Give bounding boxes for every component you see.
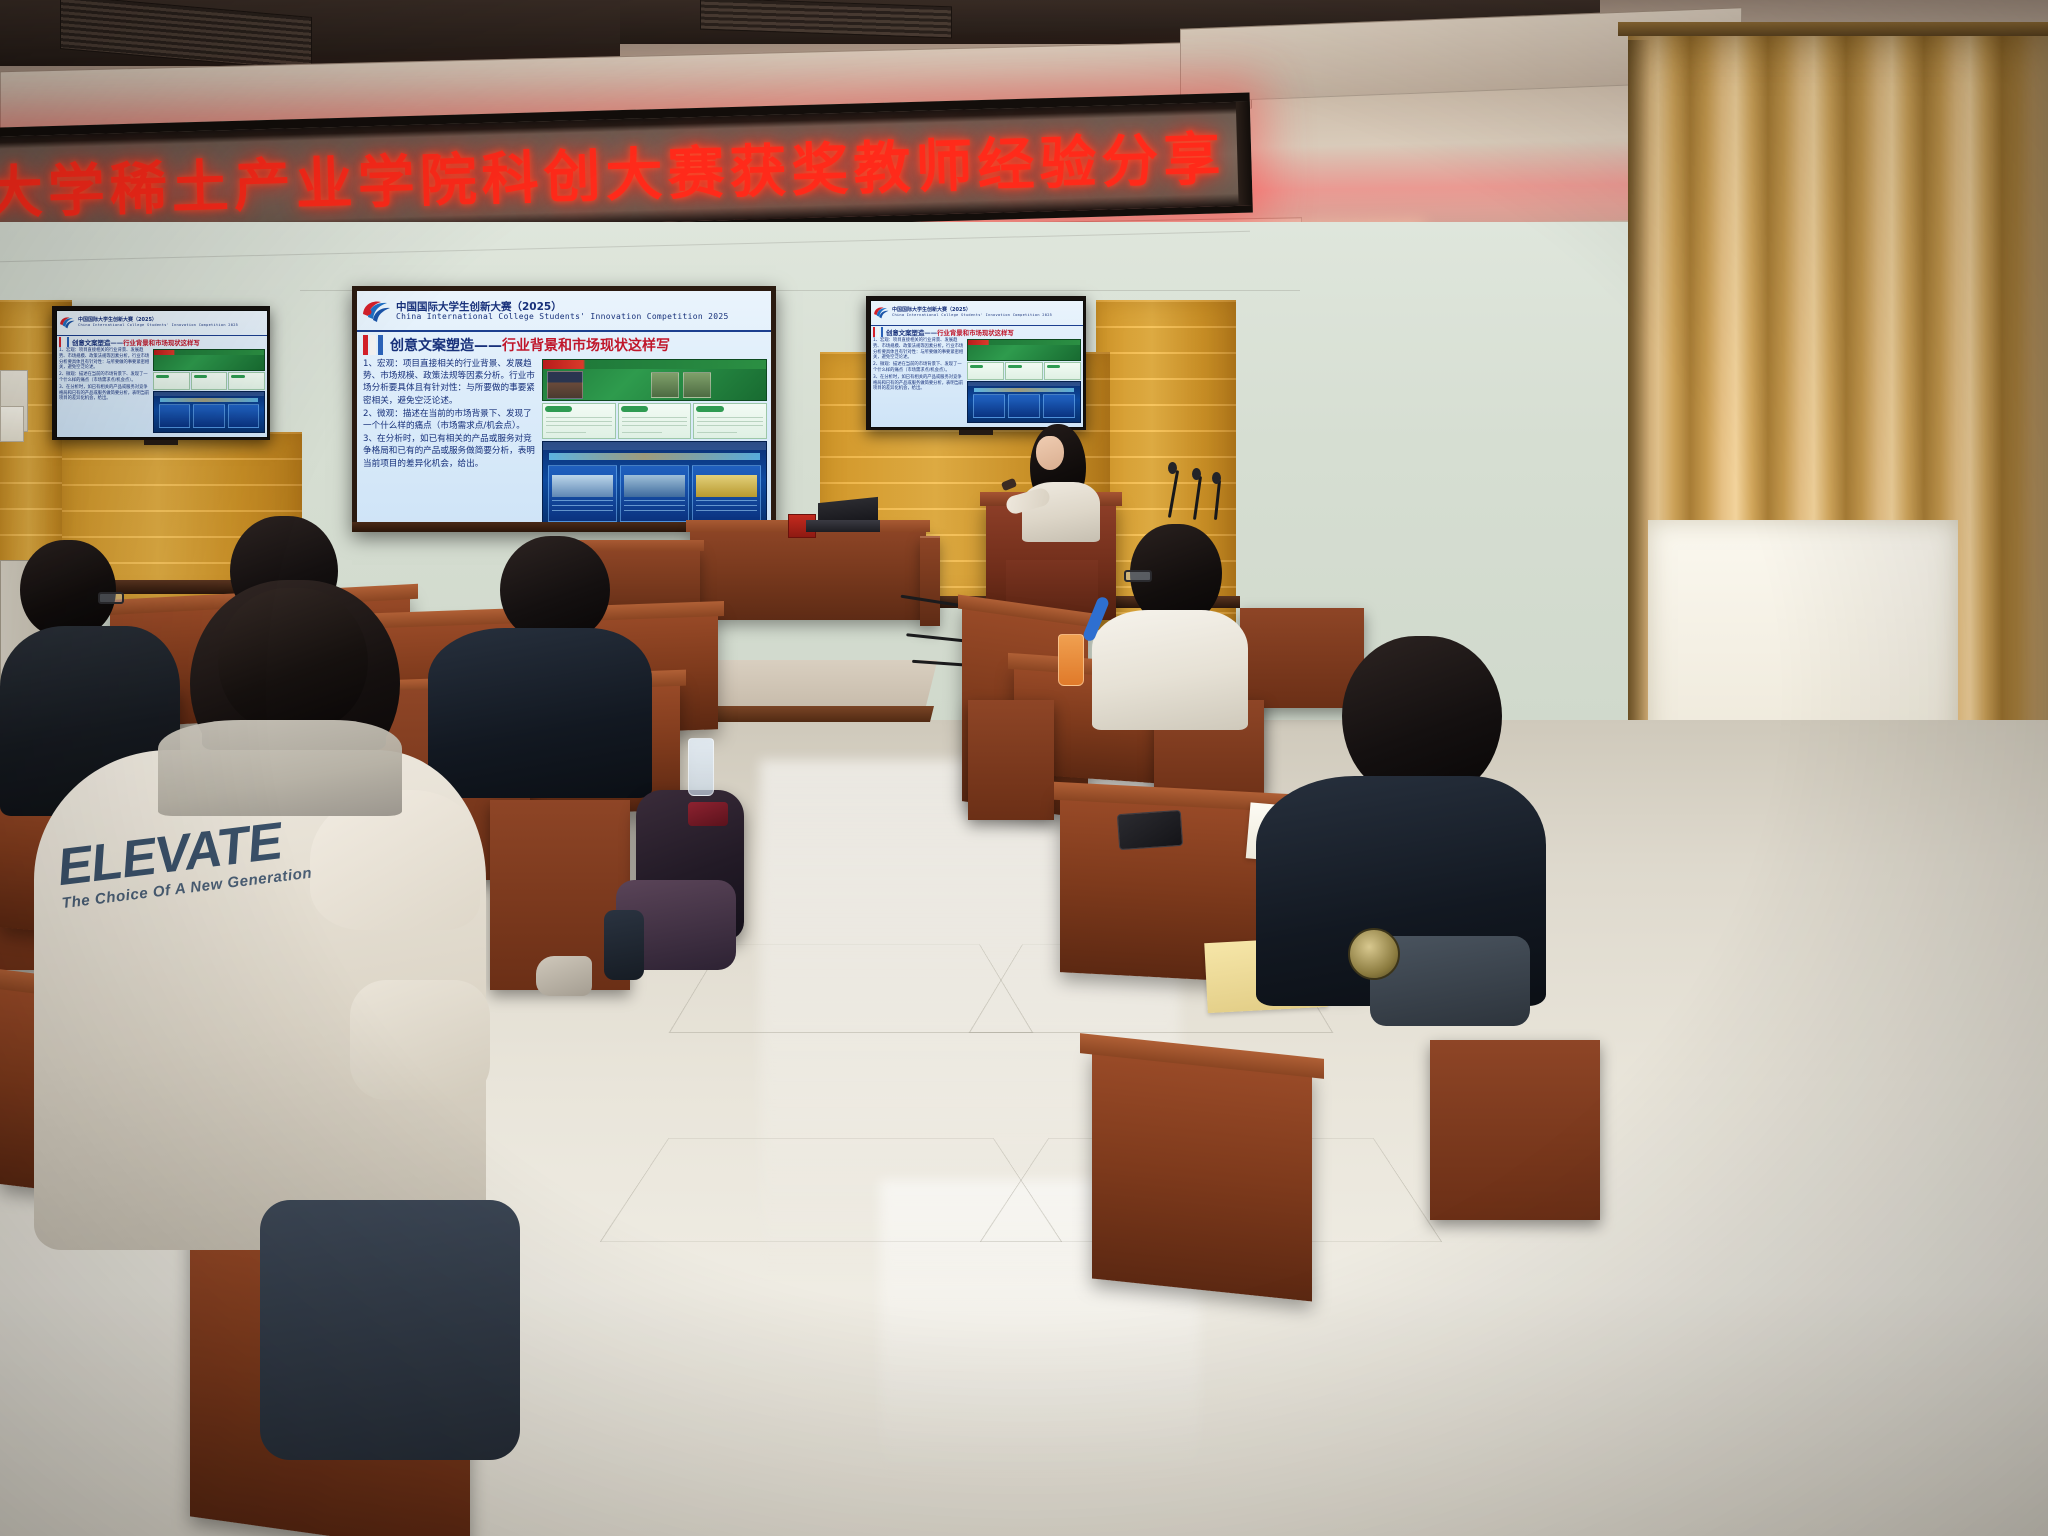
stage-edge: [698, 706, 934, 722]
slide-bullet-1: 1、宏观：项目直接相关的行业背景、发展趋势、市场规模、政策法规等因素分析。行业市…: [59, 348, 151, 371]
flag-mark-icon: [363, 335, 383, 355]
slide-image-infographic: [153, 391, 265, 433]
slide-card: [693, 403, 767, 439]
info-card: [1043, 394, 1075, 418]
slide-image-column: [542, 358, 767, 527]
led-banner-edge: [1236, 102, 1253, 206]
audience-chair: [1430, 1040, 1600, 1220]
eyeglasses-icon: [1124, 570, 1152, 582]
left-wall-tv: 中国国际大学生创新大赛（2025） China International Co…: [52, 306, 270, 440]
slide-bullet-1: 1、宏观：项目直接相关的行业背景、发展趋势、市场规模、政策法规等因素分析。行业市…: [363, 358, 538, 407]
slide-title-blue: 创意文案塑造——: [72, 339, 123, 347]
wall-sign-2: [0, 406, 24, 442]
slide-body: 1、宏观：项目直接相关的行业背景、发展趋势、市场规模、政策法规等因素分析。行业市…: [357, 357, 771, 527]
smartphone-on-desk[interactable]: [1117, 810, 1183, 850]
audience-member: [158, 588, 398, 808]
front-desk-right-edge: [920, 536, 940, 626]
slide-bullet-3: 3、在分析时，如已有相关的产品或服务对竞争格局和已有的产品或服务做简要分析，表明…: [363, 433, 538, 470]
slide-bullet-3: 3、在分析时，如已有相关的产品或服务对竞争格局和已有的产品或服务做简要分析，表明…: [873, 375, 965, 392]
audience-jacket: [1092, 610, 1248, 730]
slide-card: [618, 403, 692, 439]
foreground-arm: [350, 980, 490, 1100]
leg: [604, 910, 644, 980]
slide-title-blue: 创意文案塑造——: [390, 338, 502, 354]
flag-mark-icon: [59, 337, 69, 347]
slide-image-infographic: [967, 381, 1081, 423]
slide-bullet-2: 2、微观：描述在当前的市场背景下、发现了一个什么样的痛点（市场需求点/机会点）。: [363, 408, 538, 432]
tv-stand: [144, 440, 178, 445]
slide-image-policy-banner: [967, 339, 1081, 361]
slide-text-column: 1、宏观：项目直接相关的行业背景、发展趋势、市场规模、政策法规等因素分析。行业市…: [363, 358, 538, 527]
audience-sweater: [158, 720, 402, 816]
slide-card: [228, 372, 265, 390]
info-card: [692, 465, 761, 522]
front-desk: [690, 528, 926, 620]
slide-header: 中国国际大学生创新大赛（2025） China International Co…: [357, 291, 771, 332]
presenter: [1000, 420, 1120, 530]
right-tv-surface: 中国国际大学生创新大赛（2025） China International Co…: [870, 300, 1084, 428]
slide-card: [1044, 362, 1081, 380]
presenter-face: [1036, 436, 1064, 470]
info-card: [1008, 394, 1040, 418]
microphone-head-icon: [1168, 462, 1177, 474]
slide-image-policy-banner: [153, 349, 265, 371]
slide-image-policy-banner: [542, 359, 767, 401]
jacket-emblem: [1348, 928, 1400, 980]
slide-card: [967, 362, 1004, 380]
tv-stand: [959, 430, 993, 435]
slide-org-en: China International College Students' In…: [78, 324, 238, 328]
audience-chair: [968, 700, 1054, 820]
info-card: [228, 404, 259, 428]
slide-title-red: 行业背景和市场现状这样写: [937, 329, 1014, 337]
slide-card: [542, 403, 616, 439]
slide-card: [191, 372, 228, 390]
left-tv-surface: 中国国际大学生创新大赛（2025） China International Co…: [56, 310, 268, 438]
competition-logo-icon: [59, 316, 75, 330]
info-card: [548, 465, 617, 522]
slide-org-en: China International College Students' In…: [892, 314, 1052, 318]
slide-title-red: 行业背景和市场现状这样写: [123, 339, 200, 347]
microphone-head-icon: [1212, 472, 1221, 484]
main-projection-screen: 中国国际大学生创新大赛（2025） China International Co…: [352, 286, 776, 532]
audience-member: [1250, 636, 1550, 996]
flag-mark-icon: [873, 327, 883, 337]
info-card: [193, 404, 224, 428]
slide-title-row: 创意文案塑造——行业背景和市场现状这样写: [357, 332, 771, 357]
slide-bullet-2: 2、微观：描述在当前的市场背景下、发现了一个什么样的痛点（市场需求点/机会点）。: [59, 372, 151, 384]
right-wall-tv: 中国国际大学生创新大赛（2025） China International Co…: [866, 296, 1086, 430]
audience-member: [1078, 524, 1248, 724]
info-card: [620, 465, 689, 522]
audience-hair: [500, 536, 610, 640]
slide-bullet-1: 1、宏观：项目直接相关的行业背景、发展趋势、市场规模、政策法规等因素分析。行业市…: [873, 338, 965, 361]
info-card: [159, 404, 190, 428]
slide-card: [1005, 362, 1042, 380]
water-bottle: [688, 738, 714, 796]
slide-title: 创意文案塑造——行业背景和市场现状这样写: [390, 335, 670, 355]
desk-laptop-base: [806, 520, 880, 532]
curtain-rod: [1618, 22, 2048, 36]
slide-card: [153, 372, 190, 390]
slide-bullet-2: 2、微观：描述在当前的市场背景下、发现了一个什么样的痛点（市场需求点/机会点）。: [873, 362, 965, 374]
shoe: [536, 956, 592, 996]
lecture-hall-scene: 大学稀土产业学院科创大赛获奖教师经验分享 袁: [0, 0, 2048, 1536]
audience-hair: [1342, 636, 1502, 796]
slide-org-en: China International College Students' In…: [396, 313, 729, 321]
slide-image-three-cards: [542, 403, 767, 439]
presentation-clicker: [1001, 478, 1017, 492]
competition-logo-icon: [873, 306, 889, 320]
competition-logo-icon: [361, 299, 391, 325]
audience-desk: [1092, 1048, 1312, 1301]
led-banner-text: 大学稀土产业学院科创大赛获奖教师经验分享: [0, 112, 1253, 230]
info-card: [973, 394, 1005, 418]
backpack-logo-patch: [688, 802, 728, 826]
slide-surface: 中国国际大学生创新大赛（2025） China International Co…: [357, 291, 771, 527]
audience-hair: [218, 588, 368, 730]
microphone-head-icon: [1192, 468, 1201, 480]
foreground-trousers: [260, 1200, 520, 1460]
slide-title-red: 行业背景和市场现状这样写: [502, 338, 670, 354]
slide-bullet-3: 3、在分析时，如已有相关的产品或服务对竞争格局和已有的产品或服务做简要分析，表明…: [59, 385, 151, 402]
slide-image-infographic: [542, 441, 767, 527]
slide-title-blue: 创意文案塑造——: [886, 329, 937, 337]
